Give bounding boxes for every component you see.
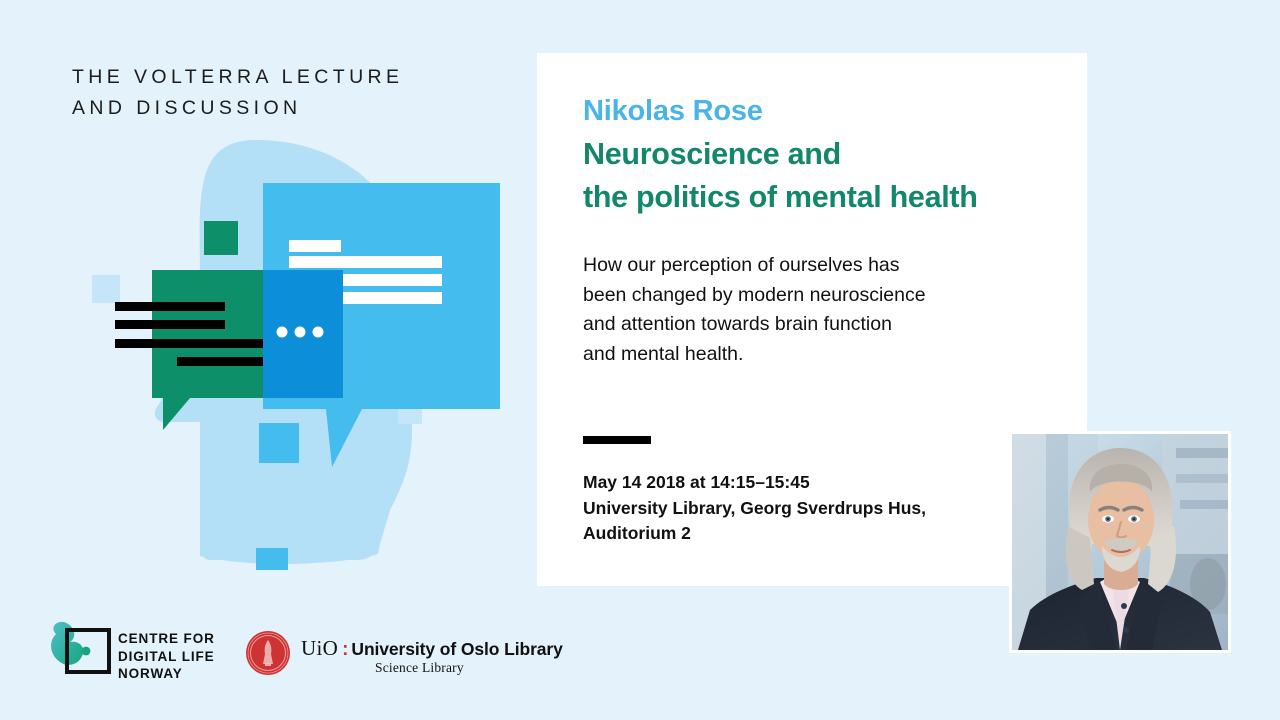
talk-abstract: How our perception of ourselves has been…	[583, 251, 1051, 369]
uio-abbreviation: UiO	[301, 636, 338, 660]
uio-separator: :	[338, 639, 351, 660]
typing-dot-2	[295, 327, 306, 338]
lecture-series-title: THE VOLTERRA LECTURE AND DISCUSSION	[72, 62, 492, 124]
event-details: May 14 2018 at 14:15–15:45 University Li…	[583, 470, 926, 547]
head-speech-bubble-illustration	[60, 130, 500, 570]
decorative-square-green	[204, 221, 238, 255]
typing-dot-3	[313, 327, 324, 338]
bubble-blue-line-2	[289, 256, 442, 268]
cdl-mark-icon	[46, 620, 112, 684]
uio-subtitle: Science Library	[375, 660, 464, 676]
uio-seal-icon	[245, 630, 291, 676]
bubble-green-line-3	[115, 339, 282, 348]
poster-canvas: THE VOLTERRA LECTURE AND DISCUSSION	[0, 0, 1280, 720]
bubble-blue-line-1	[289, 240, 341, 252]
speaker-portrait	[1012, 434, 1228, 650]
cdl-wordmark: CENTRE FOR DIGITAL LIFE NORWAY	[118, 630, 215, 683]
uio-title: University of Oslo Library	[351, 639, 562, 659]
decorative-square-cyan	[259, 423, 299, 463]
divider-rule	[583, 436, 651, 444]
typing-indicator	[263, 270, 343, 398]
uio-wordmark: UiO:University of Oslo Library	[301, 636, 563, 661]
decorative-square-cyan-bottom	[256, 548, 288, 570]
speaker-name: Nikolas Rose	[583, 91, 1051, 131]
logo-university-of-oslo-library: UiO:University of Oslo Library Science L…	[245, 626, 535, 686]
decorative-square-pale-left	[92, 275, 120, 303]
talk-title: Neuroscience and the politics of mental …	[583, 133, 1051, 219]
logo-centre-for-digital-life-norway: CENTRE FOR DIGITAL LIFE NORWAY	[46, 618, 226, 690]
content-card: Nikolas Rose Neuroscience and the politi…	[537, 53, 1087, 586]
bubble-green-line-2	[115, 320, 225, 329]
card-text-block: Nikolas Rose Neuroscience and the politi…	[583, 91, 1051, 369]
typing-dot-1	[277, 327, 288, 338]
bubble-green-line-1	[115, 302, 225, 311]
